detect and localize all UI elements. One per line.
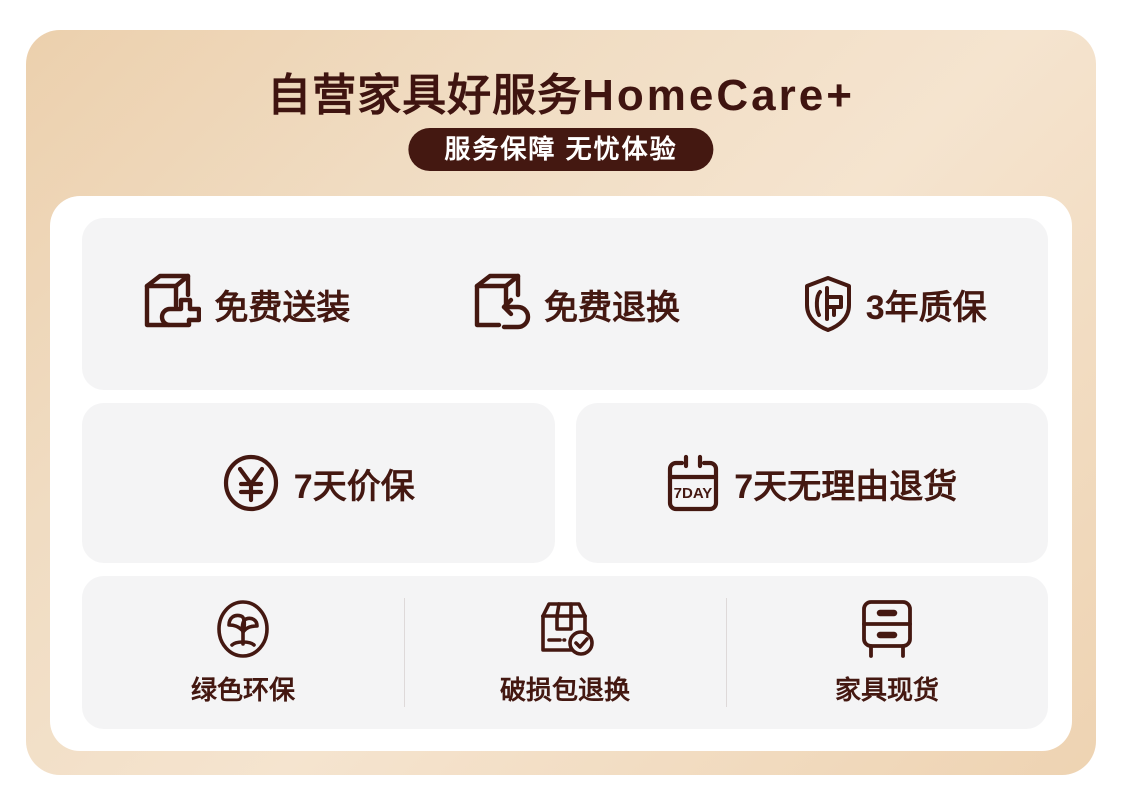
service-item-label: 免费送装 — [214, 280, 350, 329]
eco-sprout-icon — [214, 598, 272, 660]
service-item-label: 7天价保 — [294, 459, 415, 508]
subtitle-badge: 服务保障 无忧体验 — [408, 128, 713, 171]
service-item-free-return[interactable]: 免费退换 — [473, 273, 680, 335]
calendar-icon-text: 7DAY — [674, 485, 713, 502]
box-return-icon — [473, 273, 531, 335]
service-item-warranty[interactable]: 3年质保 — [803, 275, 987, 333]
service-item-in-stock[interactable]: 家具现货 — [726, 576, 1048, 729]
service-item-free-delivery[interactable]: 免费送装 — [143, 273, 350, 335]
shield-warranty-icon — [803, 275, 853, 333]
service-item-eco-friendly[interactable]: 绿色环保 — [82, 576, 404, 729]
page-title-cn: 自营家具好服务 — [267, 71, 582, 120]
box-delivery-icon — [143, 273, 201, 335]
service-item-label: 绿色环保 — [191, 670, 295, 707]
service-item-label: 免费退换 — [544, 280, 680, 329]
page-title: 自营家具好服务HomeCare+ — [26, 59, 1096, 123]
service-item-label: 7天无理由退货 — [734, 459, 957, 508]
cabinet-icon — [858, 598, 916, 660]
service-item-damage-return[interactable]: 破损包退换 — [404, 576, 726, 729]
service-row-2: 7天价保 7DAY 7天无理由退货 — [82, 403, 1048, 563]
service-item-no-reason-return[interactable]: 7DAY 7天无理由退货 — [576, 403, 1049, 563]
service-item-label: 家具现货 — [835, 670, 939, 707]
promo-panel: 自营家具好服务HomeCare+ 服务保障 无忧体验 免费送装 — [26, 30, 1096, 775]
service-item-label: 破损包退换 — [500, 670, 630, 707]
service-row-3: 绿色环保 — [82, 576, 1048, 729]
yen-circle-icon — [222, 453, 280, 513]
promo-header: 自营家具好服务HomeCare+ 服务保障 无忧体验 — [26, 30, 1096, 196]
service-item-price-protection[interactable]: 7天价保 — [82, 403, 555, 563]
calendar-7day-icon: 7DAY — [666, 453, 720, 513]
service-card: 免费送装 免费退换 — [50, 196, 1072, 751]
service-row-1: 免费送装 免费退换 — [82, 218, 1048, 390]
page-title-latin: HomeCare+ — [582, 71, 855, 120]
service-item-label: 3年质保 — [866, 280, 987, 329]
package-check-icon — [534, 598, 596, 660]
